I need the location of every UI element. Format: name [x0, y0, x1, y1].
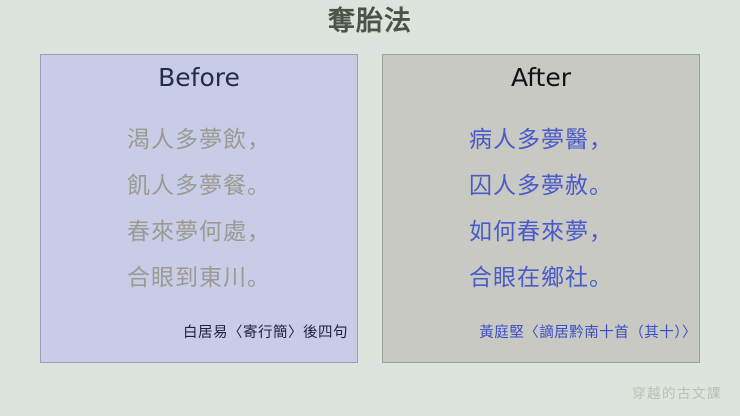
poem-line: 囚人多夢赦。 — [383, 163, 699, 209]
panel-before-heading: Before — [41, 63, 357, 93]
poem-line: 如何春來夢， — [383, 209, 699, 255]
poem-line: 合眼到東川。 — [41, 255, 357, 301]
panel-after: After 病人多夢醫， 囚人多夢赦。 如何春來夢， 合眼在鄉社。 黃庭堅〈謫居… — [382, 54, 700, 363]
watermark: 穿越的古文課 — [632, 385, 722, 403]
poem-line: 病人多夢醫， — [383, 117, 699, 163]
panel-after-poem: 病人多夢醫， 囚人多夢赦。 如何春來夢， 合眼在鄉社。 — [383, 117, 699, 301]
panel-after-attribution: 黃庭堅〈謫居黔南十首（其十）〉 — [479, 323, 697, 343]
panel-before-poem: 渴人多夢飲， 飢人多夢餐。 春來夢何處， 合眼到東川。 — [41, 117, 357, 301]
poem-line: 春來夢何處， — [41, 209, 357, 255]
poem-line: 渴人多夢飲， — [41, 117, 357, 163]
panel-before: Before 渴人多夢飲， 飢人多夢餐。 春來夢何處， 合眼到東川。 白居易〈寄… — [40, 54, 358, 363]
panel-before-attribution: 白居易〈寄行簡〉後四句 — [183, 323, 348, 343]
poem-line: 合眼在鄉社。 — [383, 255, 699, 301]
page-title: 奪胎法 — [0, 5, 740, 39]
poem-line: 飢人多夢餐。 — [41, 163, 357, 209]
slide-canvas: 奪胎法 Before 渴人多夢飲， 飢人多夢餐。 春來夢何處， 合眼到東川。 白… — [0, 0, 740, 416]
panel-after-heading: After — [383, 63, 699, 93]
